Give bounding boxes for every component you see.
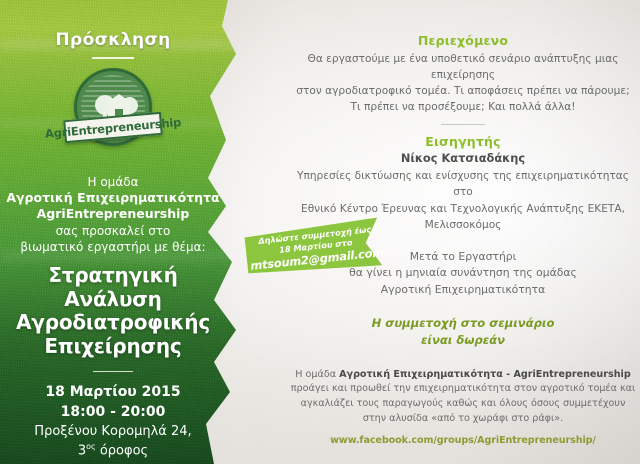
workshop-title-divider: [93, 371, 133, 373]
content-line-1: Θα εργαστούμε με ένα υποθετικό σενάριο α…: [286, 51, 640, 83]
free-participation-note: Η συμμετοχή στο σεμινάριο είναι δωρεάν: [286, 315, 640, 349]
intro-line-2: Αγροτική Επιχειρηματικότητα: [0, 190, 226, 207]
free-line-1: Η συμμετοχή στο σεμινάριο: [286, 315, 640, 332]
speaker-bio: Υπηρεσίες δικτύωσης και ενίσχυσης της επ…: [286, 168, 640, 232]
speaker-section: Εισηγητής Νίκος Κατσιαδάκης Υπηρεσίες δι…: [286, 134, 640, 232]
intro-line-3: AgriEntrepreneurship: [0, 206, 226, 223]
about-group-name: Αγροτική Επιχειρηματικότητα - AgriEntrep…: [339, 369, 631, 380]
event-floor: 3ος όροφος: [0, 441, 226, 461]
event-details: 18 Μαρτίου 2015 18:00 - 20:00 Προξένου Κ…: [0, 383, 226, 461]
speaker-heading: Εισηγητής: [286, 134, 640, 149]
about-group-section: Η ομάδα Αγροτική Επιχειρηματικότητα - Ag…: [286, 368, 640, 449]
title-divider: [92, 57, 134, 59]
content-body: Θα εργαστούμε με ένα υποθετικό σενάριο α…: [286, 51, 640, 115]
after-line-2: θα γίνει η μηνιαία συνάντηση της ομάδας: [286, 265, 640, 282]
intro-line-4: σας προσκαλεί στο: [0, 223, 226, 239]
floor-word: όροφος: [96, 444, 148, 459]
poster-canvas: Πρόσκληση AgriEntrepreneurship Η ομάδα: [0, 0, 640, 464]
content-line-2: στον αγροδιατροφικό τομέα. Τι αποφάσεις …: [286, 83, 640, 99]
speaker-bio-line-1: Υπηρεσίες δικτύωσης και ενίσχυσης της επ…: [286, 168, 640, 200]
facebook-group-link[interactable]: www.facebook.com/groups/AgriEntrepreneur…: [286, 434, 640, 449]
content-divider: [441, 124, 485, 125]
intro-line-5: βιωματικό εργαστήρι με θέμα:: [0, 239, 226, 255]
speaker-name: Νίκος Κατσιαδάκης: [286, 151, 640, 165]
workshop-title: Στρατηγική Ανάλυση Αγροδιατροφικής Επιχε…: [0, 264, 226, 358]
about-line-1: Η ομάδα Αγροτική Επιχειρηματικότητα - Ag…: [286, 368, 640, 383]
event-time: 18:00 - 20:00: [0, 403, 226, 423]
event-address: Προξένου Κορομηλά 24,: [0, 423, 226, 441]
invitation-intro: Η ομάδα Αγροτική Επιχειρηματικότητα Agri…: [0, 174, 226, 256]
content-line-3: Τι πρέπει να προσέξουμε; Και πολλά άλλα!: [286, 99, 640, 115]
speaker-bio-line-2: Εθνικό Κέντρο Έρευνας και Τεχνολογικής Α…: [286, 201, 640, 217]
page-title: Πρόσκληση: [0, 30, 226, 50]
floor-suffix: ος: [86, 442, 96, 451]
about-line-1-prefix: Η ομάδα: [295, 369, 339, 380]
workshop-title-line-2: Αγροδιατροφικής: [0, 311, 226, 335]
after-line-3: Αγροτική Επιχειρηματικότητα: [286, 282, 640, 299]
agrientrepreneurship-logo: AgriEntrepreneurship: [65, 68, 161, 154]
intro-line-1: Η ομάδα: [0, 174, 226, 190]
content-heading: Περιεχόμενο: [286, 33, 640, 48]
logo-ribbon-label: AgriEntrepreneurship: [44, 114, 181, 140]
event-date: 18 Μαρτίου 2015: [0, 383, 226, 403]
left-column: Πρόσκληση AgriEntrepreneurship Η ομάδα: [0, 0, 226, 464]
workshop-title-line-1: Στρατηγική Ανάλυση: [0, 264, 226, 311]
about-line-2: προάγει και προωθεί την επιχειρηματικότη…: [286, 382, 640, 397]
about-line-3: αγκαλιάζει τους παραγωγούς καθώς και όλο…: [286, 397, 640, 412]
about-line-4: στην αλυσίδα «από το χωράφι στο ράφι».: [286, 412, 640, 427]
free-line-2: είναι δωρεάν: [286, 332, 640, 349]
content-section: Περιεχόμενο Θα εργαστούμε με ένα υποθετι…: [286, 33, 640, 115]
floor-number: 3: [78, 444, 86, 459]
workshop-title-line-3: Επιχείρησης: [0, 335, 226, 359]
